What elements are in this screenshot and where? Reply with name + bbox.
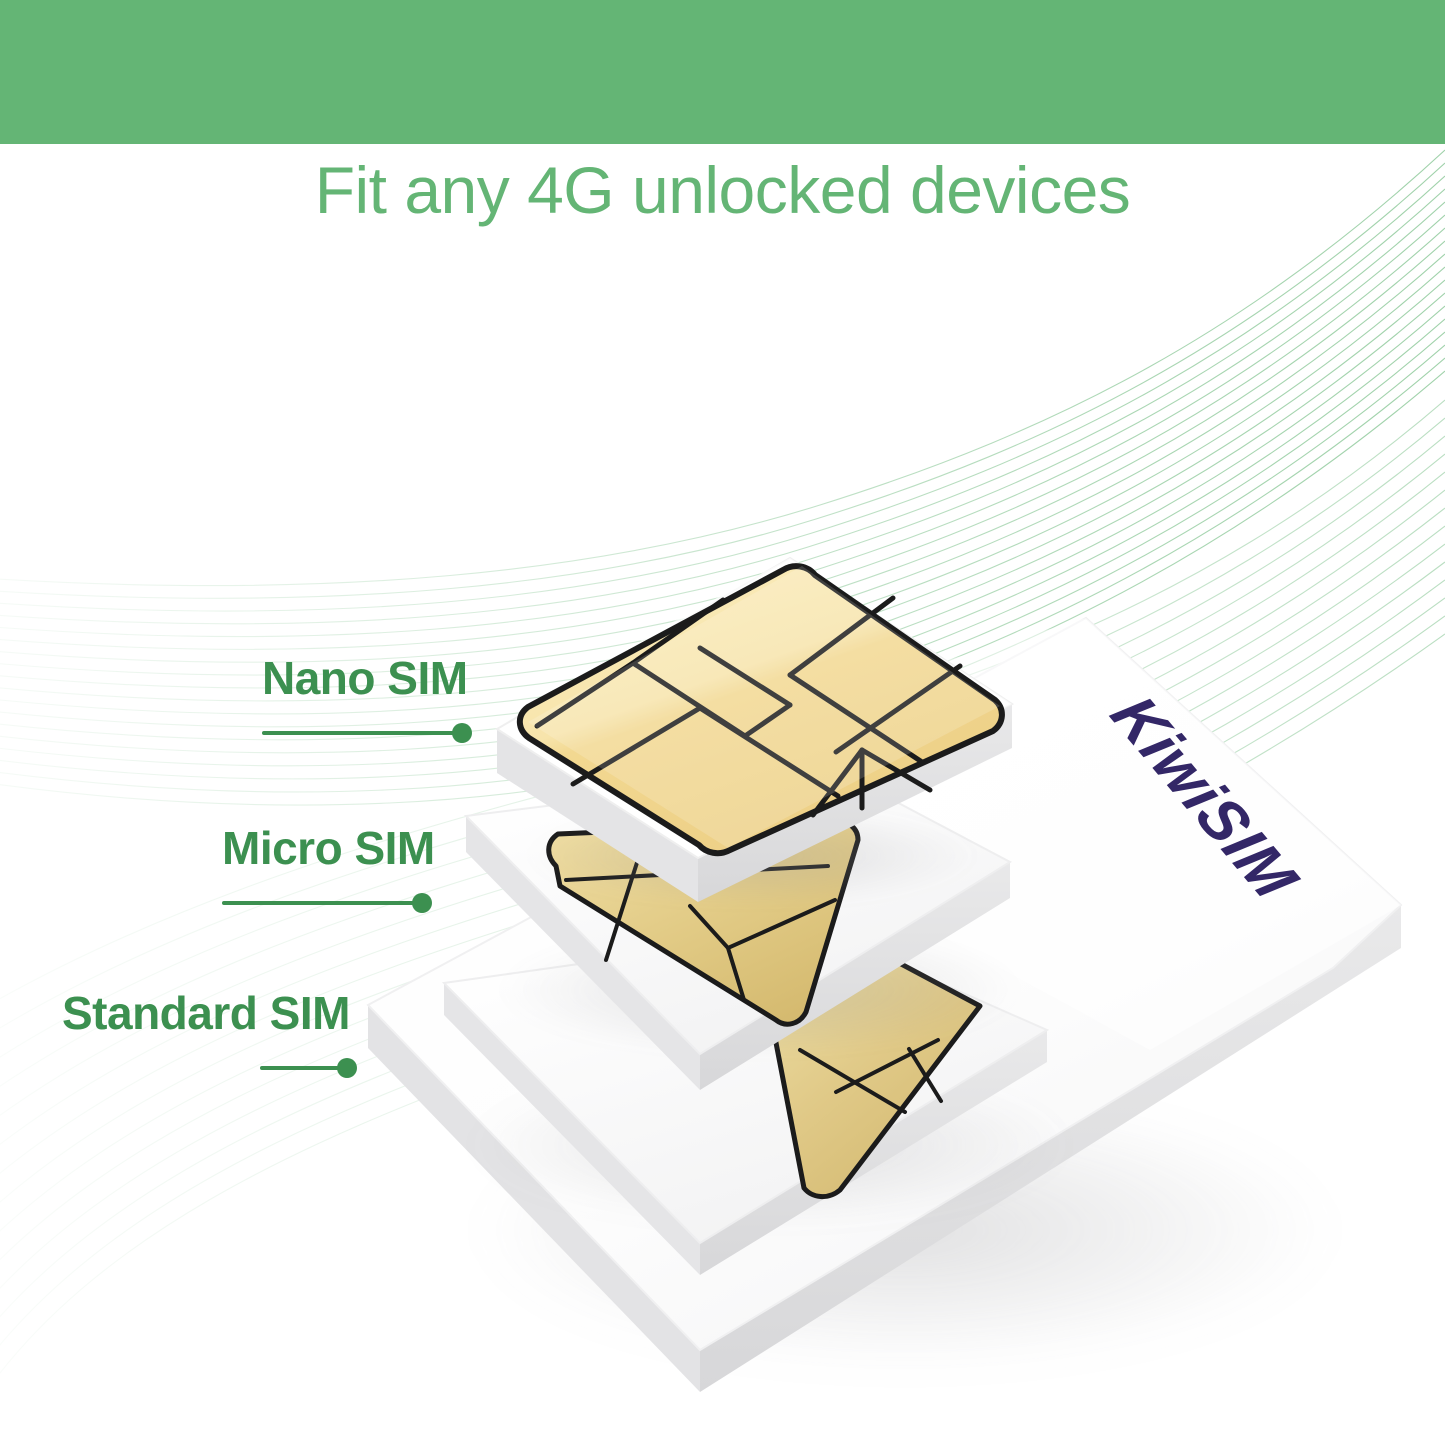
connector-line-standard bbox=[260, 1066, 346, 1070]
header-band bbox=[0, 0, 1445, 144]
connector-dot-micro bbox=[412, 893, 432, 913]
nano-sim-card bbox=[497, 558, 1012, 906]
callout-micro-sim: Micro SIM bbox=[222, 825, 435, 913]
callout-label-nano: Nano SIM bbox=[262, 655, 468, 701]
callout-label-standard: Standard SIM bbox=[62, 990, 350, 1036]
connector-dot-standard bbox=[337, 1058, 357, 1078]
page-subtitle: Fit any 4G unlocked devices bbox=[0, 152, 1445, 228]
product-infographic: KiwiSIM bbox=[0, 0, 1445, 1445]
callout-connector-micro bbox=[222, 893, 435, 913]
connector-dot-nano bbox=[452, 723, 472, 743]
callout-standard-sim: Standard SIM bbox=[62, 990, 350, 1078]
callout-nano-sim: Nano SIM bbox=[262, 655, 468, 743]
connector-line-micro bbox=[222, 901, 420, 905]
callout-connector-standard bbox=[62, 1058, 350, 1078]
callout-connector-nano bbox=[262, 723, 468, 743]
connector-line-nano bbox=[262, 731, 460, 735]
callout-label-micro: Micro SIM bbox=[222, 825, 435, 871]
